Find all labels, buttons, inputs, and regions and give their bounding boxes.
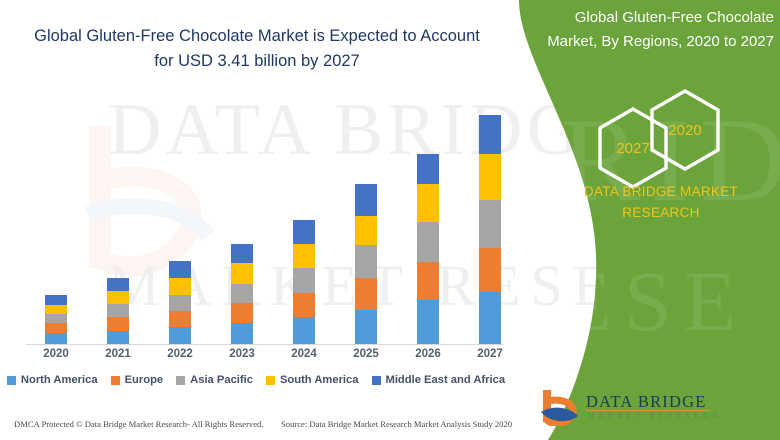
x-label-2024: 2024 bbox=[281, 348, 327, 360]
brand-line-2: RESEARCH bbox=[546, 202, 776, 223]
legend-swatch-icon bbox=[266, 376, 275, 385]
hexagon-group: 2027 2020 bbox=[596, 88, 736, 190]
segment-2027-south-america bbox=[479, 154, 501, 200]
legend-label: Middle East and Africa bbox=[386, 374, 506, 386]
segment-2022-asia-pacific bbox=[169, 295, 191, 311]
bar-2020 bbox=[45, 295, 67, 344]
legend-item-north-america[interactable]: North America bbox=[7, 374, 98, 386]
segment-2027-north-america bbox=[479, 292, 501, 344]
segment-2024-south-america bbox=[293, 244, 315, 268]
bar-2026 bbox=[417, 154, 439, 344]
legend-swatch-icon bbox=[7, 376, 16, 385]
segment-2021-south-america bbox=[107, 291, 129, 304]
segment-2027-middle-east-and-africa bbox=[479, 115, 501, 154]
segment-2022-north-america bbox=[169, 327, 191, 344]
legend-swatch-icon bbox=[176, 376, 185, 385]
segment-2021-europe bbox=[107, 317, 129, 331]
x-axis-labels: 20202021202220232024202520262027 bbox=[20, 348, 510, 366]
bar-2027 bbox=[479, 115, 501, 344]
panel-title: Global Gluten-Free Chocolate Market, By … bbox=[536, 6, 774, 54]
x-axis-line bbox=[26, 344, 504, 345]
segment-2020-south-america bbox=[45, 305, 67, 314]
segment-2025-north-america bbox=[355, 310, 377, 344]
brand-line-1: DATA BRIDGE MARKET bbox=[546, 181, 776, 202]
bar-2021 bbox=[107, 278, 129, 344]
segment-2027-asia-pacific bbox=[479, 200, 501, 248]
segment-2022-europe bbox=[169, 311, 191, 327]
segment-2020-north-america bbox=[45, 333, 67, 344]
segment-2023-south-america bbox=[231, 263, 253, 284]
logo-mark-icon bbox=[538, 388, 582, 426]
segment-2023-north-america bbox=[231, 323, 253, 344]
bar-2022 bbox=[169, 261, 191, 344]
segment-2023-asia-pacific bbox=[231, 284, 253, 303]
segment-2020-asia-pacific bbox=[45, 314, 67, 323]
legend-item-asia-pacific[interactable]: Asia Pacific bbox=[176, 374, 253, 386]
segment-2023-europe bbox=[231, 303, 253, 323]
footer-source: Source: Data Bridge Market Research Mark… bbox=[281, 419, 512, 429]
segment-2022-middle-east-and-africa bbox=[169, 261, 191, 278]
segment-2020-middle-east-and-africa bbox=[45, 295, 67, 305]
hexagon-2020-label: 2020 bbox=[648, 88, 722, 172]
infographic-canvas: DATA BRIDGE MARKET RESEARCH BRIDGE RESE … bbox=[0, 0, 780, 440]
legend-label: South America bbox=[280, 374, 359, 386]
x-label-2026: 2026 bbox=[405, 348, 451, 360]
legend-label: Europe bbox=[125, 374, 164, 386]
x-label-2022: 2022 bbox=[157, 348, 203, 360]
segment-2024-asia-pacific bbox=[293, 268, 315, 293]
segment-2025-europe bbox=[355, 278, 377, 310]
segment-2025-south-america bbox=[355, 216, 377, 245]
legend-swatch-icon bbox=[111, 376, 120, 385]
bar-2025 bbox=[355, 184, 377, 344]
page-title: Global Gluten-Free Chocolate Market is E… bbox=[26, 24, 488, 74]
segment-2023-middle-east-and-africa bbox=[231, 244, 253, 263]
legend-swatch-icon bbox=[372, 376, 381, 385]
footer-dmca: DMCA Protected © Data Bridge Market Rese… bbox=[14, 419, 264, 429]
x-label-2025: 2025 bbox=[343, 348, 389, 360]
stacked-bar-chart bbox=[20, 95, 510, 345]
segment-2022-south-america bbox=[169, 278, 191, 295]
legend-label: Asia Pacific bbox=[190, 374, 253, 386]
segment-2026-north-america bbox=[417, 300, 439, 344]
segment-2024-middle-east-and-africa bbox=[293, 220, 315, 244]
segment-2024-europe bbox=[293, 293, 315, 317]
hexagon-2020: 2020 bbox=[648, 88, 722, 172]
bar-2023 bbox=[231, 244, 253, 344]
bar-2024 bbox=[293, 220, 315, 344]
chart-legend: North AmericaEuropeAsia PacificSouth Ame… bbox=[0, 374, 512, 386]
segment-2025-middle-east-and-africa bbox=[355, 184, 377, 216]
segment-2026-middle-east-and-africa bbox=[417, 154, 439, 184]
segment-2020-europe bbox=[45, 323, 67, 333]
segment-2026-south-america bbox=[417, 184, 439, 222]
legend-item-middle-east-and-africa[interactable]: Middle East and Africa bbox=[372, 374, 506, 386]
segment-2025-asia-pacific bbox=[355, 245, 377, 278]
x-label-2021: 2021 bbox=[95, 348, 141, 360]
segment-2021-asia-pacific bbox=[107, 304, 129, 317]
legend-item-south-america[interactable]: South America bbox=[266, 374, 359, 386]
segment-2026-europe bbox=[417, 262, 439, 300]
x-label-2023: 2023 bbox=[219, 348, 265, 360]
data-bridge-logo: DATA BRIDGE MARKET RESEARCH bbox=[538, 388, 718, 428]
segment-2024-north-america bbox=[293, 317, 315, 344]
svg-text:RESE: RESE bbox=[490, 253, 748, 349]
brand-text: DATA BRIDGE MARKET RESEARCH bbox=[546, 181, 776, 223]
logo-tagline: MARKET RESEARCH bbox=[588, 412, 722, 420]
segment-2026-asia-pacific bbox=[417, 222, 439, 262]
legend-item-europe[interactable]: Europe bbox=[111, 374, 164, 386]
segment-2021-north-america bbox=[107, 331, 129, 344]
legend-label: North America bbox=[21, 374, 98, 386]
x-label-2027: 2027 bbox=[467, 348, 513, 360]
logo-name: DATA BRIDGE bbox=[586, 392, 707, 412]
x-label-2020: 2020 bbox=[33, 348, 79, 360]
segment-2027-europe bbox=[479, 248, 501, 292]
segment-2021-middle-east-and-africa bbox=[107, 278, 129, 291]
